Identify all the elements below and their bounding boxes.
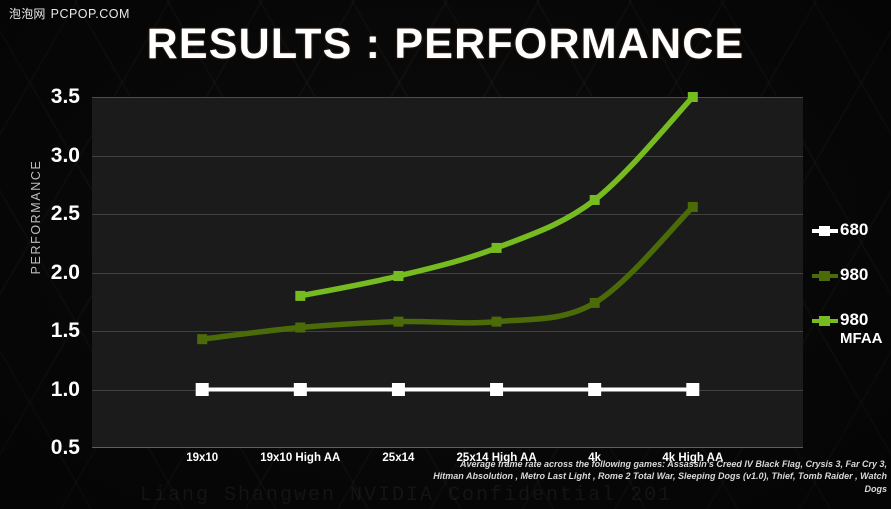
data-point-marker (590, 298, 600, 308)
series-680 (196, 383, 700, 396)
site-watermark-cn: 泡泡网 (9, 7, 46, 21)
chart-legend: 680980980MFAA (812, 220, 891, 374)
legend-sublabel: MFAA (840, 329, 883, 348)
footnote-line-1: Average frame rate across the following … (417, 458, 887, 471)
series-line (300, 97, 692, 296)
legend-marker (819, 226, 830, 236)
x-tick-label: 25x14 (382, 452, 414, 464)
legend-swatch-icon (812, 270, 838, 282)
legend-label: 680 (840, 220, 868, 239)
data-point-marker (393, 271, 403, 281)
site-watermark: 泡泡网PCPOP.COM (9, 5, 130, 22)
data-point-marker (492, 243, 502, 253)
chart-series-layer (92, 97, 803, 448)
legend-swatch-icon (812, 315, 838, 327)
data-point-marker (688, 202, 698, 212)
data-point-marker (197, 334, 207, 344)
page-title: RESULTS : PERFORMANCE (0, 20, 891, 69)
data-point-marker (490, 383, 503, 396)
legend-swatch-icon (812, 225, 838, 237)
series-980 (197, 202, 698, 344)
data-point-marker (588, 383, 601, 396)
legend-item[interactable]: 980 (812, 265, 891, 284)
y-axis-ticks: 3.53.02.52.01.51.00.5 (18, 97, 80, 448)
y-tick-label: 2.0 (51, 261, 80, 285)
data-point-marker (392, 383, 405, 396)
data-point-marker (294, 383, 307, 396)
y-tick-label: 0.5 (51, 436, 80, 460)
legend-marker (819, 316, 830, 326)
y-tick-label: 3.5 (51, 85, 80, 109)
site-watermark-en: PCPOP.COM (51, 7, 130, 21)
y-tick-label: 1.5 (51, 319, 80, 343)
legend-item[interactable]: 980MFAA (812, 310, 891, 348)
data-point-marker (590, 195, 600, 205)
legend-label: 980MFAA (840, 310, 883, 348)
data-point-marker (688, 92, 698, 102)
chart-plot-area (92, 97, 803, 448)
legend-marker (819, 271, 830, 281)
legend-item[interactable]: 680 (812, 220, 891, 239)
footnote-line-2: Hitman Absolution , Metro Last Light , R… (417, 470, 887, 495)
x-tick-label: 19x10 (186, 452, 218, 464)
y-tick-label: 1.0 (51, 378, 80, 402)
series-line (202, 207, 693, 339)
y-tick-label: 3.0 (51, 144, 80, 168)
chart-footnote: Average frame rate across the following … (417, 458, 887, 496)
slide-canvas: 泡泡网PCPOP.COM RESULTS : PERFORMANCE PERFO… (0, 0, 891, 509)
x-tick-label: 19x10 High AA (260, 452, 340, 464)
data-point-marker (393, 317, 403, 327)
y-tick-label: 2.5 (51, 202, 80, 226)
data-point-marker (196, 383, 209, 396)
data-point-marker (295, 322, 305, 332)
data-point-marker (295, 291, 305, 301)
data-point-marker (492, 317, 502, 327)
data-point-marker (686, 383, 699, 396)
legend-label: 980 (840, 265, 868, 284)
